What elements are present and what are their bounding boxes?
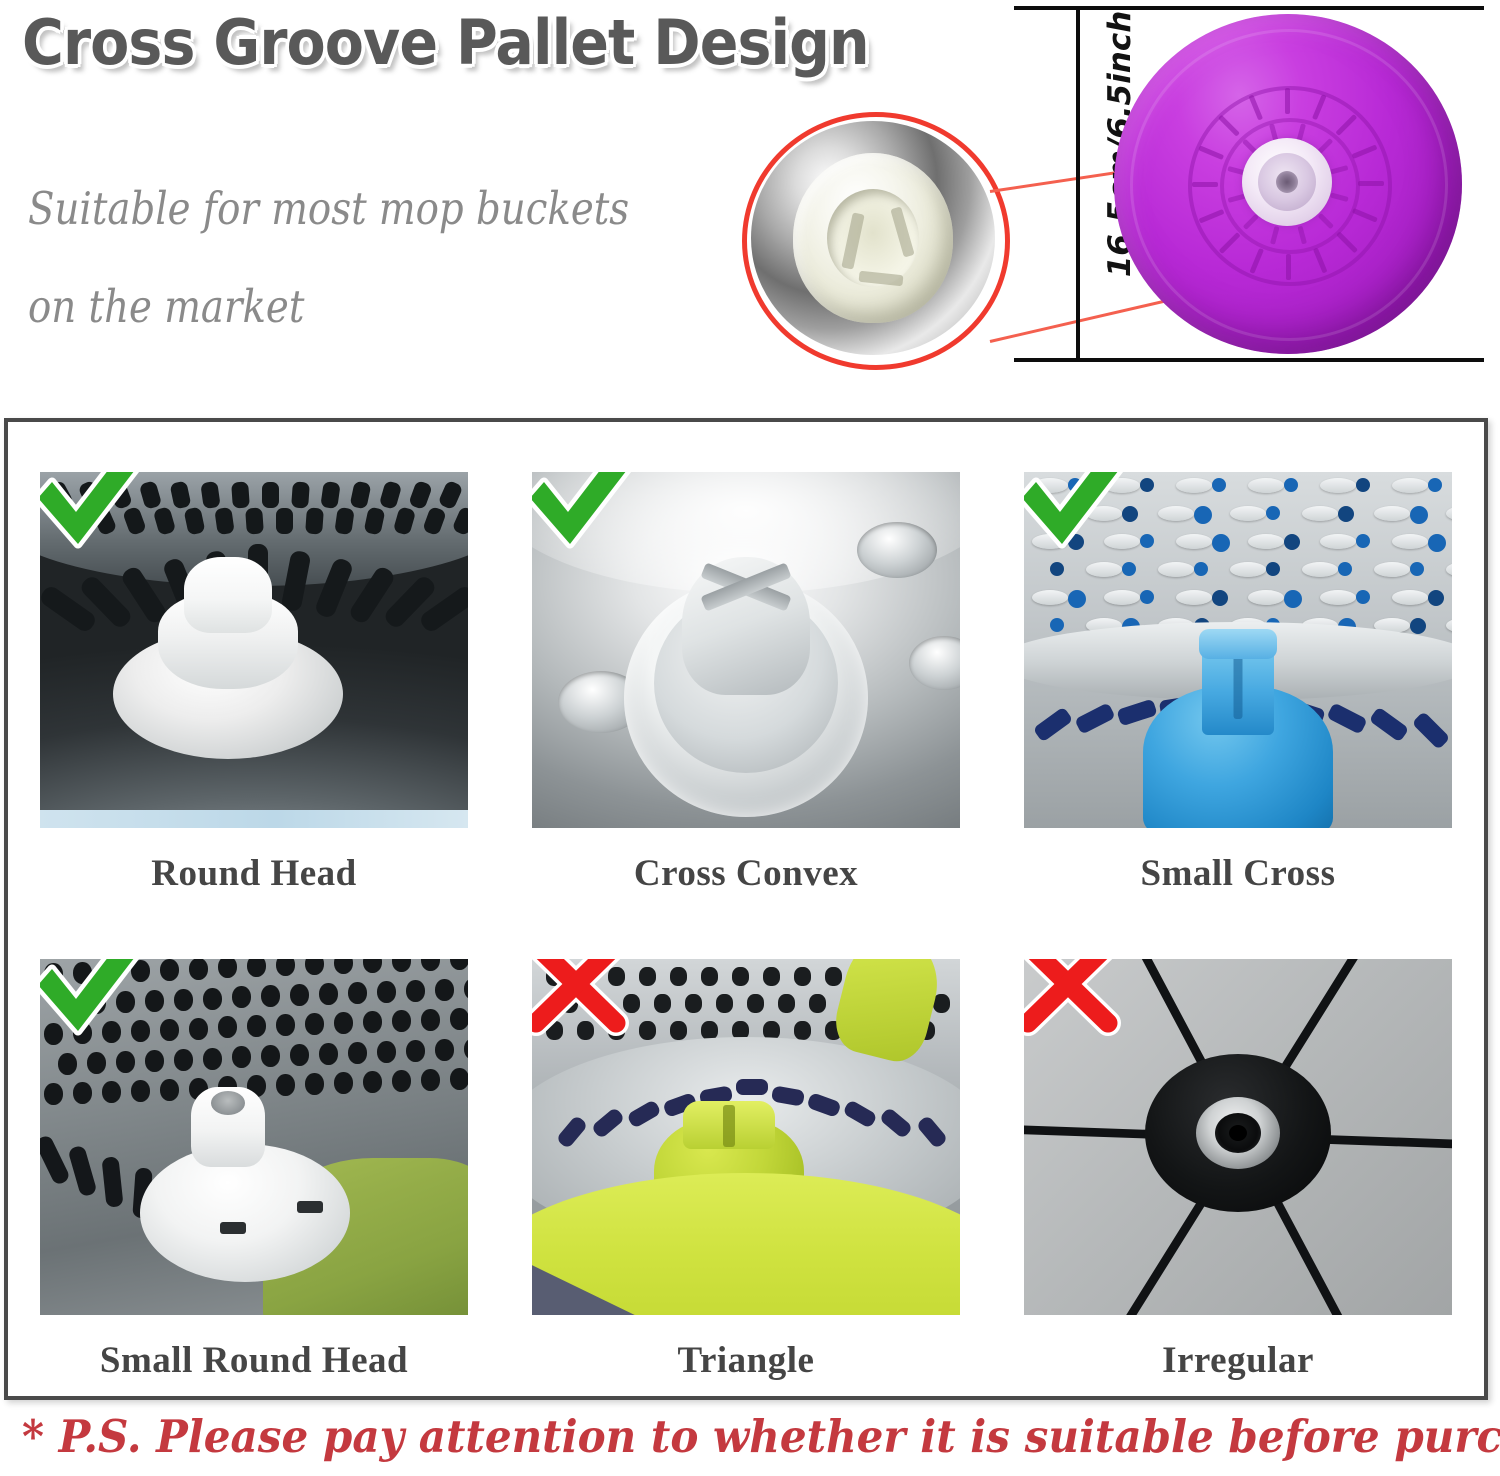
triangle-notch-icon — [723, 1105, 735, 1147]
bucket-perforation — [577, 967, 594, 986]
basin-slot — [1033, 706, 1074, 742]
compat-cell-round-head[interactable]: Round Head — [8, 422, 500, 909]
bucket-perforation — [546, 967, 563, 986]
drum-perforation — [131, 960, 150, 982]
drum-perforation — [421, 959, 440, 971]
bucket-slot — [736, 1079, 768, 1095]
bucket-perforation — [685, 994, 702, 1013]
cell-caption: Irregular — [1162, 1339, 1314, 1382]
inset-circle-frame — [742, 112, 1010, 370]
drum-perforation — [102, 1021, 121, 1043]
basin-emboss — [1374, 562, 1410, 577]
drum-perforation — [406, 980, 425, 1002]
blue-dot — [1428, 534, 1446, 552]
drum-hole — [231, 481, 250, 508]
impeller-image — [1024, 959, 1452, 1315]
drum-perforation — [87, 992, 106, 1014]
dimension-cap-bottom — [1014, 358, 1484, 362]
bucket-perforation — [716, 994, 733, 1013]
drum-hole — [262, 482, 279, 508]
basin-emboss — [1032, 590, 1068, 605]
drum-perforation — [73, 1022, 92, 1044]
blue-dot — [1140, 590, 1154, 604]
drum-perforation — [450, 1008, 468, 1030]
compat-cell-triangle[interactable]: Triangle — [500, 909, 992, 1396]
drum-perforation — [276, 1074, 295, 1096]
disc-hub-core — [1276, 171, 1298, 193]
drum-perforation — [247, 959, 266, 977]
drum-perforation — [160, 1079, 179, 1101]
drum-perforation — [406, 1040, 425, 1062]
basin-emboss — [1176, 590, 1212, 605]
bucket-perforation — [670, 967, 687, 986]
blue-dot — [1122, 506, 1138, 522]
basin-emboss — [1392, 590, 1428, 605]
basin-emboss — [1320, 534, 1356, 549]
basin-emboss — [1320, 478, 1356, 493]
drum-bottom-edge — [40, 810, 468, 828]
bucket-perforation — [794, 1021, 811, 1040]
blue-dot — [1410, 618, 1426, 634]
blue-dot — [1266, 562, 1280, 576]
basin-emboss — [1248, 590, 1284, 605]
drum-perforation — [58, 993, 77, 1015]
drum-perforation — [131, 1020, 150, 1042]
drum-slot — [101, 1156, 123, 1208]
drum-perforation — [392, 1010, 411, 1032]
basin-dimple — [857, 522, 937, 578]
blue-dot — [1284, 590, 1302, 608]
drum-perforation — [261, 985, 280, 1007]
drum-perforation — [363, 959, 382, 973]
photo-small-round-head — [40, 959, 468, 1315]
drum-perforation — [218, 1016, 237, 1038]
drum-hole — [291, 481, 310, 508]
drum-perforation — [450, 959, 468, 970]
drum-perforation — [44, 1023, 63, 1045]
drum-perforation — [319, 1043, 338, 1065]
basin-emboss — [1230, 562, 1266, 577]
drum-perforation — [102, 1081, 121, 1103]
bucket-perforation — [639, 1021, 656, 1040]
blue-dot — [1338, 562, 1352, 576]
bucket-perforation — [670, 1021, 687, 1040]
blue-dot — [1338, 506, 1354, 522]
photo-triangle — [532, 959, 960, 1315]
header-section: Cross Groove Pallet Design Suitable for … — [0, 0, 1500, 400]
disc-rib — [1192, 182, 1218, 187]
drum-perforation — [392, 959, 411, 972]
blue-dot — [1212, 590, 1228, 606]
disc-rib — [1286, 254, 1291, 280]
drum-perforation — [348, 1042, 367, 1064]
basin-emboss — [1086, 506, 1122, 521]
cell-caption: Small Round Head — [100, 1339, 408, 1382]
basin-emboss — [1320, 590, 1356, 605]
drum-perforation — [334, 1072, 353, 1094]
drum-perforation — [189, 1018, 208, 1040]
bucket-perforation — [794, 967, 811, 986]
drum-perforation — [218, 959, 237, 978]
perforated-drum-image — [40, 959, 468, 1315]
blue-dot — [1284, 534, 1300, 550]
purple-pallet-disc — [1114, 14, 1462, 354]
basin-emboss — [1302, 506, 1338, 521]
bucket-perforation — [608, 1021, 625, 1040]
blue-dot — [1410, 506, 1428, 524]
drum-hole — [245, 507, 264, 534]
bucket-perforation — [763, 967, 780, 986]
drum-perforation — [305, 959, 324, 975]
blue-dot — [1194, 506, 1212, 524]
compat-cell-cross-convex[interactable]: Cross Convex — [500, 422, 992, 909]
product-disc-image — [1114, 14, 1464, 356]
drum-perforation — [392, 1070, 411, 1092]
drum-perforation — [131, 1080, 150, 1102]
drum-perforation — [348, 982, 367, 1004]
small-cross-post-top — [1199, 629, 1277, 659]
drum-perforation — [44, 1083, 63, 1105]
basin-emboss — [1230, 506, 1266, 521]
drum-slot — [40, 1134, 71, 1186]
drum-perforation — [276, 1014, 295, 1036]
basin-emboss — [1446, 506, 1452, 521]
basin-emboss — [1446, 618, 1452, 633]
bucket-perforation — [592, 994, 609, 1013]
blue-dot — [1194, 562, 1208, 576]
drum-perforation — [377, 1041, 396, 1063]
drum-perforation — [232, 1046, 251, 1068]
drum-perforation — [58, 1053, 77, 1075]
drum-perforation — [464, 978, 468, 1000]
compatibility-grid: Round Head — [8, 422, 1484, 1396]
basin-emboss — [1032, 534, 1068, 549]
green-bucket-image — [532, 959, 960, 1315]
drum-perforation — [421, 1009, 440, 1031]
drum-perforation — [160, 1019, 179, 1041]
drum-perforation — [319, 983, 338, 1005]
dimension-line — [1076, 6, 1080, 362]
drum-perforation — [435, 979, 454, 1001]
photo-cross-convex — [532, 472, 960, 828]
blue-dot — [1266, 506, 1280, 520]
chrome-basin-image — [532, 472, 960, 828]
drum-perforation — [174, 989, 193, 1011]
basin-emboss — [1446, 562, 1452, 577]
drum-perforation — [160, 959, 179, 981]
bucket-drum-image — [40, 472, 468, 828]
disc-rib — [1285, 88, 1290, 114]
drum-perforation — [116, 1051, 135, 1073]
basin-emboss — [1158, 506, 1194, 521]
blue-dot — [1410, 562, 1424, 576]
drum-perforation — [290, 984, 309, 1006]
cell-caption: Round Head — [151, 852, 356, 895]
inset-white-hub — [793, 153, 953, 323]
basin-emboss — [1104, 534, 1140, 549]
drum-perforation — [377, 981, 396, 1003]
drum-perforation — [232, 986, 251, 1008]
photo-irregular — [1024, 959, 1452, 1315]
bucket-perforation — [701, 967, 718, 986]
drum-perforation — [203, 988, 222, 1010]
drum-perforation — [305, 1073, 324, 1095]
basin-slot — [1326, 702, 1368, 734]
page-title: Cross Groove Pallet Design — [22, 8, 869, 78]
bucket-front-lip — [532, 1173, 960, 1315]
blue-dot — [1212, 478, 1226, 492]
round-head-top — [184, 557, 272, 633]
disc-center-hub — [1242, 138, 1332, 226]
blue-dot — [1356, 534, 1370, 548]
basin-emboss — [1158, 562, 1194, 577]
drum-perforation — [73, 962, 92, 984]
photo-small-cross — [1024, 472, 1452, 828]
drum-perforation — [363, 1071, 382, 1093]
drum-perforation — [189, 959, 208, 980]
cell-caption: Cross Convex — [634, 852, 858, 895]
blue-dot — [1068, 534, 1084, 550]
blue-dot — [1050, 618, 1064, 632]
cell-caption: Small Cross — [1141, 852, 1336, 895]
basin-emboss — [1104, 590, 1140, 605]
blue-dot — [1140, 534, 1154, 548]
compat-cell-irregular[interactable]: Irregular — [992, 909, 1484, 1396]
blue-dot — [1284, 478, 1298, 492]
basin-emboss — [1248, 534, 1284, 549]
blue-dot — [1428, 478, 1442, 492]
drum-perforation — [290, 1044, 309, 1066]
drum-perforation — [203, 1048, 222, 1070]
drum-perforation — [102, 961, 121, 983]
basin-slot — [1074, 702, 1116, 734]
basin-emboss — [1086, 562, 1122, 577]
drum-perforation — [435, 1039, 454, 1061]
blue-dot — [1356, 590, 1370, 604]
disc-notch — [297, 1201, 323, 1213]
drum-perforation — [334, 959, 353, 974]
irregular-socket-core — [1229, 1125, 1247, 1141]
bucket-perforation — [809, 994, 826, 1013]
bucket-perforation — [778, 994, 795, 1013]
blue-dot — [1068, 478, 1082, 492]
blue-dot — [1122, 562, 1136, 576]
basin-emboss — [1032, 478, 1068, 493]
bucket-perforation — [639, 967, 656, 986]
dimension-cap-top — [1014, 6, 1484, 10]
bucket-perforation — [654, 994, 671, 1013]
blue-dot-basin-image — [1024, 472, 1452, 828]
drum-perforation — [276, 959, 295, 976]
hub-closeup-inset — [742, 112, 1010, 367]
drum-perforation — [44, 963, 63, 985]
drum-perforation — [421, 1069, 440, 1091]
drum-perforation — [261, 1045, 280, 1067]
blue-dot — [1050, 562, 1064, 576]
compat-cell-small-round-head[interactable]: Small Round Head — [8, 909, 500, 1396]
bucket-perforation — [825, 967, 842, 986]
bucket-perforation — [608, 967, 625, 986]
drum-perforation — [73, 1082, 92, 1104]
basin-emboss — [1392, 478, 1428, 493]
drum-hole — [305, 507, 324, 534]
disc-notch — [220, 1222, 246, 1234]
basin-emboss — [1392, 534, 1428, 549]
disc-rib — [1358, 181, 1384, 186]
basin-emboss — [1302, 562, 1338, 577]
basin-emboss — [1176, 534, 1212, 549]
drum-perforation — [145, 990, 164, 1012]
drum-perforation — [174, 1049, 193, 1071]
blue-dot — [1428, 590, 1444, 606]
drum-perforation — [363, 1011, 382, 1033]
bucket-perforation — [577, 1021, 594, 1040]
basin-dimple — [909, 636, 960, 690]
disc-hub-mid — [1258, 153, 1316, 211]
basin-slot — [1369, 706, 1410, 742]
basin-emboss — [1104, 478, 1140, 493]
drum-slot — [67, 1145, 97, 1198]
bucket-perforation — [747, 994, 764, 1013]
bucket-perforation — [546, 1021, 563, 1040]
basin-emboss — [1248, 478, 1284, 493]
drum-perforation — [450, 1068, 468, 1090]
drum-perforation — [145, 1050, 164, 1072]
compat-cell-small-cross[interactable]: Small Cross — [992, 422, 1484, 909]
subtitle-text: Suitable for most mop buckets on the mar… — [28, 160, 630, 356]
basin-slot — [1412, 711, 1451, 750]
blue-dot — [1356, 478, 1370, 492]
photo-round-head — [40, 472, 468, 828]
blue-dot — [1140, 478, 1154, 492]
blue-dot — [1212, 534, 1230, 552]
drum-perforation — [464, 1038, 468, 1060]
small-round-head-bore — [211, 1091, 245, 1115]
bucket-perforation — [561, 994, 578, 1013]
cell-caption: Triangle — [678, 1339, 815, 1382]
bucket-perforation — [732, 967, 749, 986]
blue-dot — [1050, 506, 1064, 520]
basin-emboss — [1374, 506, 1410, 521]
drum-perforation — [247, 1015, 266, 1037]
drum-perforation — [334, 1012, 353, 1034]
drum-perforation — [305, 1013, 324, 1035]
footer-section: * P.S. Please pay attention to whether i… — [0, 1404, 1500, 1476]
compatibility-panel: Round Head — [4, 418, 1488, 1400]
blue-dot — [1068, 590, 1086, 608]
drum-perforation — [116, 991, 135, 1013]
purchase-note: * P.S. Please pay attention to whether i… — [22, 1404, 1500, 1470]
drum-perforation — [87, 1052, 106, 1074]
basin-emboss — [1176, 478, 1212, 493]
bucket-perforation — [623, 994, 640, 1013]
drum-hole — [276, 508, 293, 534]
